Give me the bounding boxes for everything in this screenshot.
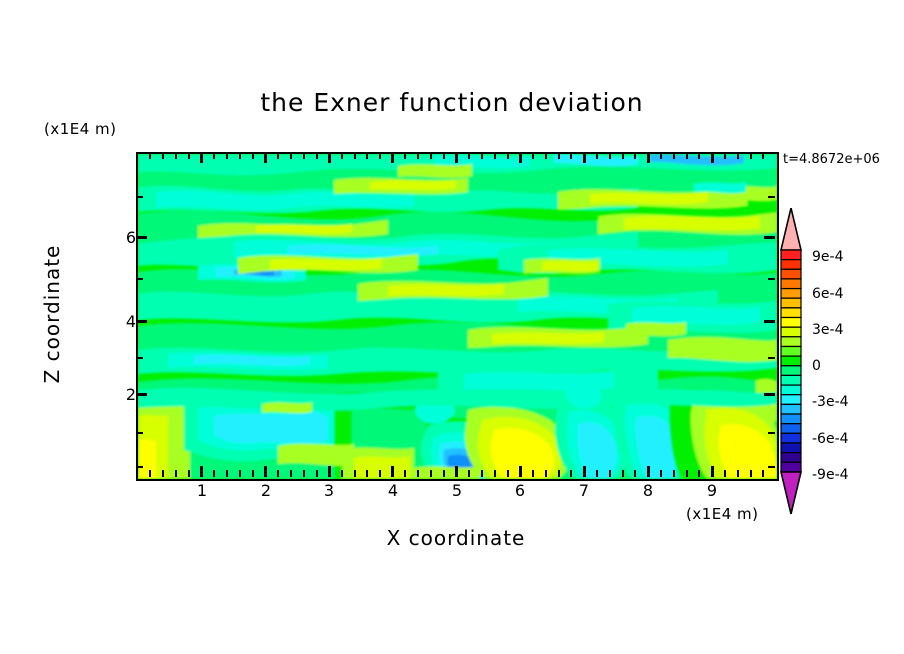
x-minor-tick: [226, 470, 228, 477]
x-minor-tick: [175, 470, 177, 477]
x-minor-tick: [724, 152, 726, 159]
x-major-tick-6: [519, 466, 522, 477]
colorbar-label-0: 0: [812, 358, 821, 374]
y-axis-label: Z coordinate: [40, 204, 64, 424]
colorbar-label-neg3e-4: -3e-4: [812, 394, 849, 410]
x-minor-tick: [737, 470, 739, 477]
x-minor-tick: [366, 470, 368, 477]
x-major-tick-9: [711, 466, 714, 477]
x-minor-tick: [698, 470, 700, 477]
colorbar-label-neg6e-4: -6e-4: [812, 431, 849, 447]
x-minor-tick: [316, 152, 318, 159]
x-minor-tick: [316, 470, 318, 477]
x-minor-tick: [430, 152, 432, 159]
x-minor-tick: [673, 470, 675, 477]
x-minor-tick: [162, 470, 164, 477]
page-title: the Exner function deviation: [0, 88, 904, 117]
x-minor-tick: [417, 470, 419, 477]
colorbar-under-arrow: [781, 472, 801, 514]
x-minor-tick: [750, 152, 752, 159]
x-minor-tick: [404, 470, 406, 477]
x-major-tick-3: [328, 466, 331, 477]
x-minor-tick: [622, 470, 624, 477]
x-major-tick-7: [583, 466, 586, 477]
x-minor-tick: [239, 152, 241, 159]
x-major-tick-4: [391, 466, 394, 477]
x-minor-tick: [545, 152, 547, 159]
x-axis-label: X coordinate: [236, 526, 676, 550]
x-minor-tick: [303, 152, 305, 159]
x-minor-tick: [545, 470, 547, 477]
x-minor-tick: [570, 470, 572, 477]
x-minor-tick: [239, 470, 241, 477]
x-minor-tick: [532, 470, 534, 477]
x-minor-tick: [724, 470, 726, 477]
y-minor-tick: [768, 357, 775, 359]
x-minor-tick: [162, 152, 164, 159]
x-tick-label-8: 8: [628, 481, 668, 500]
x-minor-tick: [596, 152, 598, 159]
colorbar-label-neg9e-4: -9e-4: [812, 467, 849, 483]
x-minor-tick: [673, 152, 675, 159]
x-minor-tick: [609, 152, 611, 159]
colorbar-label-6e-4: 6e-4: [812, 286, 843, 302]
x-minor-tick: [443, 470, 445, 477]
x-axis-unit-label: (x1E4 m): [686, 505, 759, 523]
x-minor-tick: [277, 470, 279, 477]
colorbar-bands: [781, 250, 801, 472]
x-tick-label-9: 9: [692, 481, 732, 500]
colorbar-over-arrow: [781, 208, 801, 250]
x-minor-tick: [634, 152, 636, 159]
x-major-tick-top-8: [647, 152, 650, 163]
x-tick-label-2: 2: [246, 481, 286, 500]
x-major-tick-top-1: [200, 152, 203, 163]
x-minor-tick: [507, 470, 509, 477]
y-minor-tick: [768, 466, 775, 468]
x-minor-tick: [481, 152, 483, 159]
x-minor-tick: [417, 152, 419, 159]
x-tick-label-1: 1: [182, 481, 222, 500]
x-minor-tick: [532, 152, 534, 159]
x-minor-tick: [494, 152, 496, 159]
x-minor-tick: [175, 152, 177, 159]
y-tick-label-6: 6: [96, 228, 136, 247]
y-minor-tick: [136, 196, 143, 198]
x-minor-tick: [213, 152, 215, 159]
figure-canvas: the Exner function deviation (x1E4 m) t=…: [0, 0, 904, 654]
x-major-tick-5: [455, 466, 458, 477]
colorbar[interactable]: [778, 208, 804, 514]
y-minor-tick: [768, 196, 775, 198]
y-tick-label-4: 4: [96, 312, 136, 331]
x-minor-tick: [468, 152, 470, 159]
y-minor-tick: [136, 466, 143, 468]
y-tick-label-2: 2: [96, 385, 136, 404]
x-minor-tick: [277, 152, 279, 159]
colorbar-label-9e-4: 9e-4: [812, 249, 843, 265]
colorbar-label-3e-4: 3e-4: [812, 322, 843, 338]
x-minor-tick: [481, 470, 483, 477]
x-minor-tick: [468, 470, 470, 477]
x-major-tick-top-3: [328, 152, 331, 163]
x-minor-tick: [149, 470, 151, 477]
x-minor-tick: [634, 470, 636, 477]
x-minor-tick: [252, 152, 254, 159]
x-minor-tick: [303, 470, 305, 477]
x-minor-tick: [494, 470, 496, 477]
x-minor-tick: [213, 470, 215, 477]
x-major-tick-1: [200, 466, 203, 477]
x-major-tick-top-5: [455, 152, 458, 163]
x-minor-tick: [737, 152, 739, 159]
contour-field: [138, 154, 777, 479]
contour-plot-area[interactable]: [136, 152, 779, 481]
y-major-tick-6: [136, 236, 147, 239]
x-minor-tick: [570, 152, 572, 159]
x-minor-tick: [660, 470, 662, 477]
x-minor-tick: [609, 470, 611, 477]
x-minor-tick: [290, 470, 292, 477]
y-minor-tick: [136, 278, 143, 280]
x-major-tick-top-2: [264, 152, 267, 163]
y-major-tick-right-4: [764, 320, 775, 323]
x-major-tick-8: [647, 466, 650, 477]
x-minor-tick: [622, 152, 624, 159]
x-minor-tick: [686, 470, 688, 477]
x-minor-tick: [226, 152, 228, 159]
x-minor-tick: [354, 470, 356, 477]
x-minor-tick: [188, 152, 190, 159]
x-major-tick-top-9: [711, 152, 714, 163]
x-minor-tick: [290, 152, 292, 159]
x-minor-tick: [750, 470, 752, 477]
x-minor-tick: [660, 152, 662, 159]
x-minor-tick: [149, 152, 151, 159]
x-minor-tick: [430, 470, 432, 477]
x-major-tick-2: [264, 466, 267, 477]
x-minor-tick: [596, 470, 598, 477]
y-axis-unit-label: (x1E4 m): [44, 120, 117, 138]
y-minor-tick: [768, 278, 775, 280]
x-minor-tick: [698, 152, 700, 159]
y-minor-tick: [136, 357, 143, 359]
y-minor-tick: [136, 432, 143, 434]
x-tick-label-5: 5: [437, 481, 477, 500]
x-minor-tick: [404, 152, 406, 159]
x-minor-tick: [252, 470, 254, 477]
x-minor-tick: [762, 152, 764, 159]
x-tick-label-7: 7: [564, 481, 604, 500]
x-minor-tick: [558, 152, 560, 159]
time-annotation: t=4.8672e+06: [783, 152, 880, 167]
y-major-tick-right-2: [764, 393, 775, 396]
x-minor-tick: [379, 470, 381, 477]
y-major-tick-4: [136, 320, 147, 323]
x-minor-tick: [379, 152, 381, 159]
x-tick-label-4: 4: [373, 481, 413, 500]
x-minor-tick: [366, 152, 368, 159]
y-minor-tick: [768, 432, 775, 434]
x-minor-tick: [341, 152, 343, 159]
x-minor-tick: [188, 470, 190, 477]
x-major-tick-top-4: [391, 152, 394, 163]
x-tick-label-3: 3: [309, 481, 349, 500]
x-minor-tick: [762, 470, 764, 477]
x-minor-tick: [341, 470, 343, 477]
x-minor-tick: [686, 152, 688, 159]
x-major-tick-top-6: [519, 152, 522, 163]
x-tick-label-6: 6: [500, 481, 540, 500]
x-minor-tick: [443, 152, 445, 159]
y-major-tick-right-6: [764, 236, 775, 239]
x-major-tick-top-7: [583, 152, 586, 163]
y-major-tick-2: [136, 393, 147, 396]
x-minor-tick: [507, 152, 509, 159]
x-minor-tick: [354, 152, 356, 159]
x-minor-tick: [558, 470, 560, 477]
